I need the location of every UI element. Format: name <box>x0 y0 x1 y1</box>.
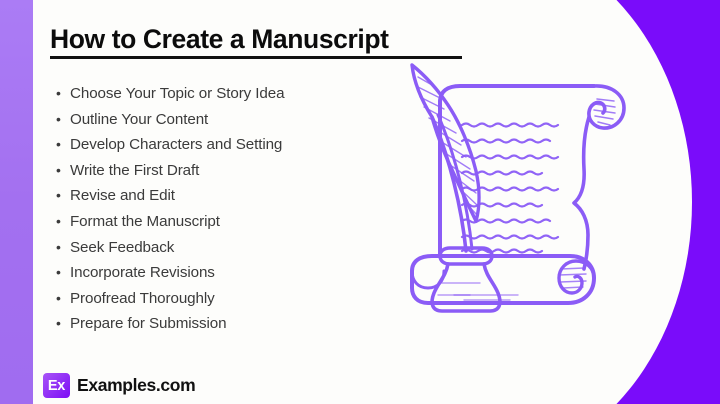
bullet-dot-icon: • <box>56 86 70 100</box>
list-item-label: Incorporate Revisions <box>70 265 215 280</box>
bullet-dot-icon: • <box>56 291 70 305</box>
list-item-label: Format the Manuscript <box>70 214 220 229</box>
slide-content: How to Create a Manuscript • Choose Your… <box>0 0 720 404</box>
list-item-label: Proofread Thoroughly <box>70 291 215 306</box>
list-item-label: Outline Your Content <box>70 112 208 127</box>
slide-canvas: How to Create a Manuscript • Choose Your… <box>0 0 720 404</box>
list-item: • Choose Your Topic or Story Idea <box>56 86 284 112</box>
list-item: • Seek Feedback <box>56 240 284 266</box>
list-item: • Outline Your Content <box>56 112 284 138</box>
bullet-dot-icon: • <box>56 163 70 177</box>
bullet-dot-icon: • <box>56 265 70 279</box>
brand-name: Examples.com <box>77 375 195 396</box>
list-item-label: Write the First Draft <box>70 163 199 178</box>
examples-badge-icon: Ex <box>43 373 70 398</box>
list-item: • Prepare for Submission <box>56 316 284 342</box>
bullet-dot-icon: • <box>56 112 70 126</box>
page-title: How to Create a Manuscript <box>50 24 462 54</box>
bullet-dot-icon: • <box>56 316 70 330</box>
bullet-dot-icon: • <box>56 240 70 254</box>
list-item: • Proofread Thoroughly <box>56 291 284 317</box>
list-item-label: Revise and Edit <box>70 188 175 203</box>
list-item-label: Prepare for Submission <box>70 316 227 331</box>
bullet-dot-icon: • <box>56 188 70 202</box>
list-item: • Revise and Edit <box>56 188 284 214</box>
list-item: • Develop Characters and Setting <box>56 137 284 163</box>
scroll-quill-inkwell-icon <box>398 55 658 320</box>
list-item-label: Seek Feedback <box>70 240 174 255</box>
list-item-label: Choose Your Topic or Story Idea <box>70 86 284 101</box>
bullet-dot-icon: • <box>56 137 70 151</box>
list-item: • Write the First Draft <box>56 163 284 189</box>
brand-logo[interactable]: Ex Examples.com <box>43 373 195 398</box>
steps-list: • Choose Your Topic or Story Idea • Outl… <box>56 86 284 342</box>
list-item: • Incorporate Revisions <box>56 265 284 291</box>
list-item-label: Develop Characters and Setting <box>70 137 282 152</box>
bullet-dot-icon: • <box>56 214 70 228</box>
list-item: • Format the Manuscript <box>56 214 284 240</box>
